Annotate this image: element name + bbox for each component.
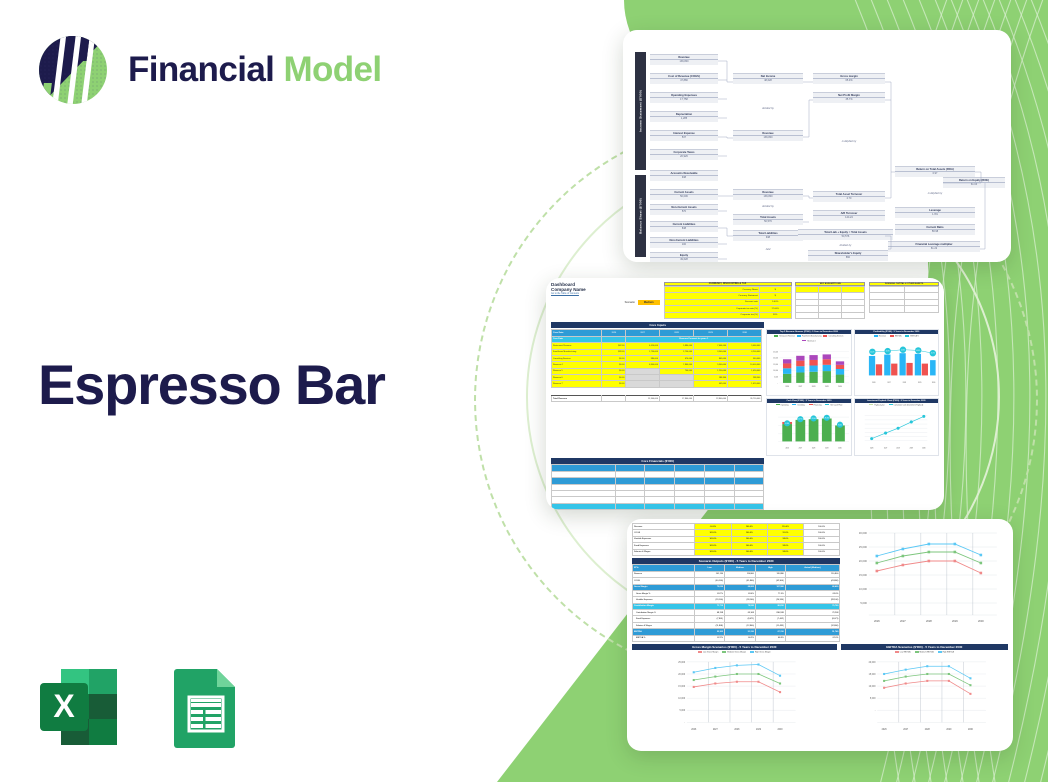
brand-name-part1: Financial xyxy=(128,50,283,89)
svg-text:5,000: 5,000 xyxy=(774,376,778,378)
band-balance-sheet: Balance Sheet ($'000) xyxy=(635,175,646,257)
svg-text:20,000: 20,000 xyxy=(859,559,867,563)
svg-text:20,000: 20,000 xyxy=(868,661,876,663)
svg-text:2026: 2026 xyxy=(874,619,880,623)
svg-text:15,000: 15,000 xyxy=(859,573,867,577)
svg-text:-: - xyxy=(778,382,779,384)
operator-divided-by-1: divided by xyxy=(733,107,803,110)
scenario-inputs-table: Revenue -10.0% 100.0% 110.0% 100.0% COGS… xyxy=(632,523,840,556)
svg-text:2026: 2026 xyxy=(691,729,697,731)
node-gross-margin: Gross margin 65.0% xyxy=(813,73,885,84)
svg-text:-: - xyxy=(684,722,685,724)
node-total-liab-equity: Total Liab + Equity = Total Assets 50,57… xyxy=(798,229,893,240)
node-revenue: Revenue 136,800 xyxy=(650,54,718,65)
legend-item: Operating xyxy=(776,404,789,406)
svg-text:10,000: 10,000 xyxy=(868,686,876,688)
legend-item: Payback year xyxy=(869,404,884,406)
svg-text:10,000: 10,000 xyxy=(678,698,686,700)
svg-text:20,000: 20,000 xyxy=(678,674,686,676)
node-ar-turnover: A/R Turnover 144.24 xyxy=(813,210,885,221)
svg-text:2027: 2027 xyxy=(884,447,888,449)
svg-text:2027: 2027 xyxy=(799,447,803,449)
node-net-profit-margin: Net Profit Margin 35.7% xyxy=(813,92,885,103)
svg-text:2029: 2029 xyxy=(825,447,829,449)
svg-text:2029: 2029 xyxy=(946,729,952,731)
svg-text:2030: 2030 xyxy=(978,619,984,623)
legend-item: High Gross Margin xyxy=(750,651,771,653)
svg-text:2029: 2029 xyxy=(825,386,829,388)
svg-text:2028: 2028 xyxy=(926,619,932,623)
scenario-label: Scenario xyxy=(625,300,635,305)
svg-text:2030: 2030 xyxy=(931,382,935,384)
svg-text:2030: 2030 xyxy=(778,729,784,731)
working-capital-table xyxy=(869,286,939,313)
operator-multiplied-by-1: multiplied by xyxy=(813,140,885,143)
gross-margin-scenarios-chart: 25,00020,000 15,00010,000 5,000- 2026 20 xyxy=(632,655,837,737)
svg-text:2028: 2028 xyxy=(902,382,906,384)
svg-text:5,000: 5,000 xyxy=(870,698,876,700)
core-inputs-table: Core Data 2026 2027 2028 2029 2030 Core … xyxy=(551,329,762,402)
table-row: EBITDA % 62.2% 60.2% 66.8% 62.0% xyxy=(633,635,840,641)
top5-revenue-streams-chart: 25,00020,000 15,00010,000 5,000- xyxy=(767,343,850,395)
svg-text:10,000: 10,000 xyxy=(859,587,867,591)
svg-text:2028: 2028 xyxy=(924,729,930,731)
node-total-assets: Total Assets 50,576 xyxy=(733,214,803,225)
svg-text:15,000: 15,000 xyxy=(868,674,876,676)
table-total-row: Total Revenue 11,340,000 17,860,000 22,8… xyxy=(552,395,762,401)
page-title: Espresso Bar xyxy=(38,352,385,417)
scenario-select[interactable]: Medium xyxy=(638,300,660,305)
legend-item: EBITDA % xyxy=(905,335,919,337)
google-sheets-icon[interactable] xyxy=(163,665,248,750)
node-shareholders-equity: Shareholder's Equity 860 xyxy=(808,250,888,261)
svg-text:2026: 2026 xyxy=(872,382,876,384)
scenario-outputs-table: KPIs Low Medium High Actual (Medium) Rev… xyxy=(632,564,840,642)
brand-name-part2: Model xyxy=(283,50,381,89)
node-total-liabilities: Total Liabilities 948 xyxy=(733,230,803,241)
svg-text:2028: 2028 xyxy=(734,729,740,731)
section-core-inputs: Core Inputs xyxy=(551,322,764,328)
legend-item: Restaurant Revenue xyxy=(774,335,794,337)
node-non-current-liabilities: Non-Current Liabilities 100 xyxy=(650,237,718,248)
svg-text:2026: 2026 xyxy=(870,447,874,449)
node-current-liabilities: Current Liabilities 848 xyxy=(650,221,718,232)
svg-text:2029: 2029 xyxy=(909,447,913,449)
node-revenue-bs: Revenue 136,800 xyxy=(733,189,803,200)
svg-text:2029: 2029 xyxy=(952,619,958,623)
node-equity: Equity 49,628 xyxy=(650,252,718,262)
node-depreciation: Depreciation 1,285 xyxy=(650,111,718,122)
table-row: Salaries & Wages 105.0% 100.0% 98.0% 100… xyxy=(633,549,840,555)
svg-text:2030: 2030 xyxy=(922,447,926,449)
svg-text:2026: 2026 xyxy=(881,729,887,731)
svg-text:2027: 2027 xyxy=(799,386,803,388)
node-roa: Return on Total Assets (ROA) 0.97 xyxy=(895,166,975,177)
node-current-assets: Current Assets 50,006 xyxy=(650,189,718,200)
currency-table: Currency Name $ Currency Statement $ Dis… xyxy=(664,286,792,319)
svg-text:10,000: 10,000 xyxy=(773,370,778,372)
financial-model-circle-bars-logo xyxy=(36,33,110,107)
core-financials-table xyxy=(551,464,764,510)
ebitda-scenarios-chart: 20,00015,000 10,0005,000 - 2026 2027 xyxy=(841,655,1008,737)
svg-text:2030: 2030 xyxy=(968,729,974,731)
table-row xyxy=(870,306,939,312)
scenarios-card[interactable]: Revenue -10.0% 100.0% 110.0% 100.0% COGS… xyxy=(627,519,1013,751)
legend-item: Consulting Services xyxy=(823,335,843,337)
brand-name: Financial Model xyxy=(128,50,382,90)
svg-text:2028: 2028 xyxy=(812,386,816,388)
node-roe: Return on Equity (ROE) 61.03 xyxy=(943,177,1005,188)
dashboard-card[interactable]: Dashboard Company Name Go to the Table o… xyxy=(546,278,944,510)
profitability-chart: 44.2% 44.3% 44.6% 43.8% 41.7% 2026 2027 xyxy=(855,339,938,391)
operator-divided-by-3: divided by xyxy=(798,244,893,247)
svg-text:2029: 2029 xyxy=(918,382,922,384)
svg-text:20,000: 20,000 xyxy=(773,357,778,359)
svg-text:2027: 2027 xyxy=(887,382,891,384)
svg-text:2029: 2029 xyxy=(756,729,762,731)
band-income-statement: Income Statement ($'000) xyxy=(635,52,646,170)
legend-item: Low EBITDA xyxy=(895,651,911,653)
svg-text:2027: 2027 xyxy=(903,729,909,731)
svg-text:25,000: 25,000 xyxy=(678,661,686,663)
svg-text:2027: 2027 xyxy=(900,619,906,623)
svg-text:15,000: 15,000 xyxy=(773,364,778,366)
table-of-contents-link[interactable]: Go to the Table of Contents xyxy=(551,293,660,295)
node-non-current-assets: Non-Current Assets 570 xyxy=(650,204,718,215)
node-financial-leverage-multiplier: Financial Leverage multiplier 61.22 xyxy=(888,241,980,252)
excel-x-glyph: X xyxy=(53,688,75,724)
legend-item: Medium Gross Margin xyxy=(722,651,746,653)
slide-canvas: Financial Model Espresso Bar X xyxy=(0,0,1048,782)
operator-divided-by-2: divided by xyxy=(733,205,803,208)
legend-item: Food Items Manufacturing xyxy=(797,335,822,337)
node-leverage: Leverage 1.9% xyxy=(895,207,975,218)
revenue-scenarios-chart: 30,00025,000 20,00015,000 10,0005,000 20… xyxy=(844,523,1008,631)
dupont-analysis-card[interactable]: Income Statement ($'000) Balance Sheet (… xyxy=(623,30,1011,262)
svg-text:5,000: 5,000 xyxy=(861,601,868,605)
node-interest-expense: Interest Expense 537 xyxy=(650,130,718,141)
svg-text:2030: 2030 xyxy=(838,386,842,388)
svg-text:30,000: 30,000 xyxy=(859,531,867,535)
svg-text:2030: 2030 xyxy=(838,447,842,449)
brand-logo[interactable]: Financial Model xyxy=(36,33,382,107)
svg-text:-: - xyxy=(874,710,875,712)
table-row xyxy=(796,312,865,318)
microsoft-excel-icon[interactable]: X xyxy=(36,665,121,750)
legend-item: Investing xyxy=(792,404,804,406)
svg-text:25,000: 25,000 xyxy=(773,351,778,353)
svg-text:2028: 2028 xyxy=(812,447,816,449)
node-current-ratio: Current Ratio 58.98 xyxy=(895,224,975,235)
legend-item: Medium EBITDA xyxy=(915,651,934,653)
legend-item: Financing xyxy=(809,404,822,406)
legend-item: Low Gross Margin xyxy=(698,651,718,653)
node-total-asset-turnover: Total Asset Turnover 2.70 xyxy=(813,191,885,202)
legend-item: Revenue 4 xyxy=(802,340,815,342)
legend-item: Revenue xyxy=(874,335,886,337)
legend-item: Cumulative Cash (Investment Payback) xyxy=(889,404,924,406)
node-corporate-taxes: Corporate Taxes 20,926 xyxy=(650,149,718,160)
node-accounts-receivable: Accounts Receivable 948 xyxy=(650,170,718,181)
assumptions-table xyxy=(795,286,865,319)
operator-add: Add xyxy=(733,248,803,251)
node-cogs: Cost of Revenue (COGS) 47,880 xyxy=(650,73,718,84)
svg-text:2026: 2026 xyxy=(786,447,790,449)
node-net-income: Net Income 48,628 xyxy=(733,73,803,84)
legend-item: EBITDA xyxy=(890,335,902,337)
operator-multiplied-by-2: multiplied by xyxy=(895,192,975,195)
legend-item: Net Cash Flow xyxy=(825,404,842,406)
table-row xyxy=(552,387,762,395)
svg-text:5,000: 5,000 xyxy=(680,710,686,712)
investment-payback-chart: 2026 2027 2028 2029 2030 xyxy=(855,407,938,455)
legend-item: High EBITDA xyxy=(938,651,954,653)
table-row: Corporate tax (%) 30% xyxy=(664,312,791,318)
node-revenue-mid: Revenue 136,800 xyxy=(733,130,803,141)
svg-text:25,000: 25,000 xyxy=(859,545,867,549)
file-format-icons: X xyxy=(36,665,248,750)
cash-flow-chart: 4,800 20,750 25,900 28,590 8,550 2026 20… xyxy=(767,407,850,455)
node-opex: Operating Expenses 17,758 xyxy=(650,92,718,103)
svg-text:2028: 2028 xyxy=(896,447,900,449)
svg-text:2026: 2026 xyxy=(786,386,790,388)
svg-text:2027: 2027 xyxy=(713,729,719,731)
svg-text:15,000: 15,000 xyxy=(678,686,686,688)
